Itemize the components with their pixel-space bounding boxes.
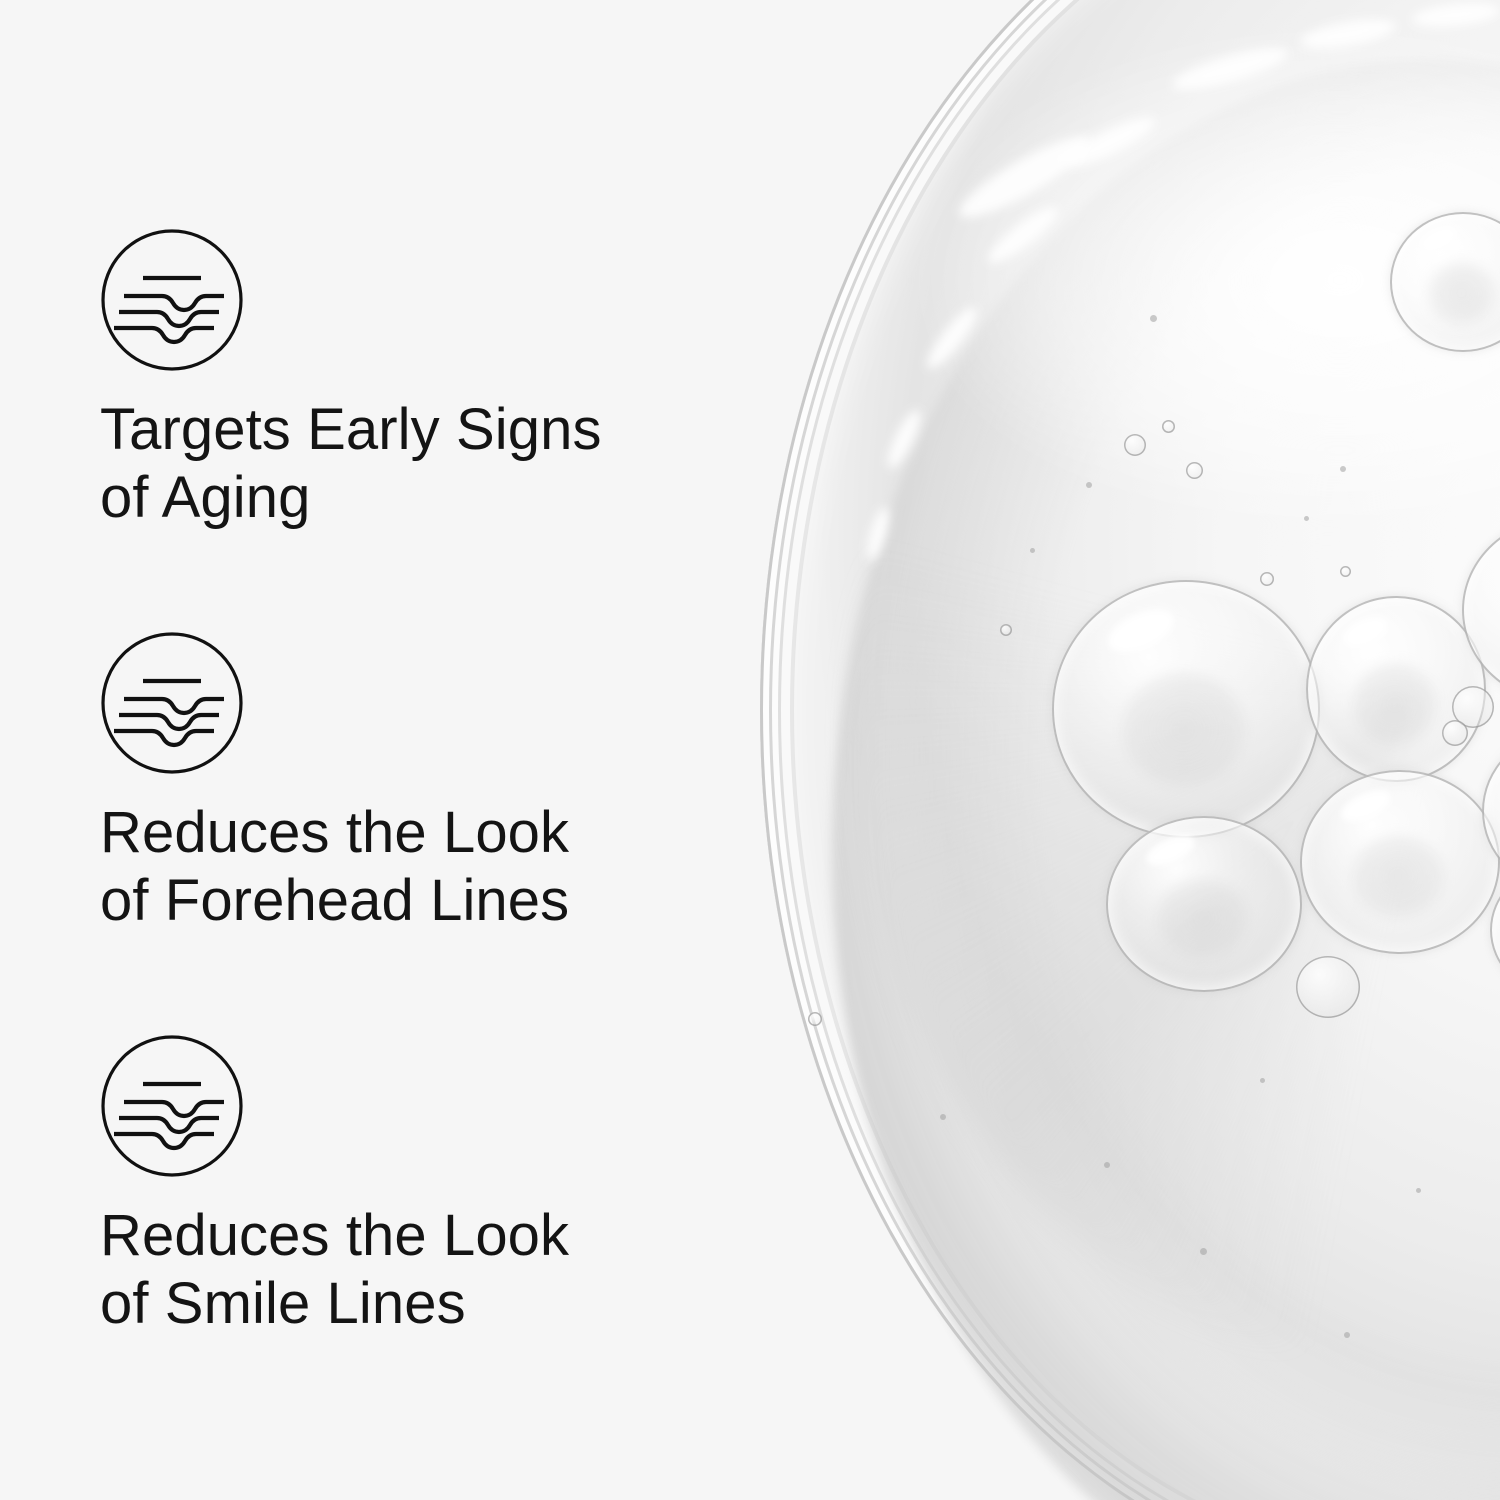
gel-speck bbox=[1086, 482, 1092, 488]
product-image-clear-gel-petri-dish bbox=[700, 0, 1500, 1500]
benefit-list: Targets Early Signs of Aging Reduces the… bbox=[100, 228, 700, 1339]
gel-speck bbox=[1104, 1162, 1110, 1168]
air-bubble bbox=[1306, 596, 1486, 782]
benefit-item-reduces-forehead-lines: Reduces the Look of Forehead Lines bbox=[100, 631, 700, 936]
gel-speck bbox=[1200, 1248, 1207, 1255]
air-bubble bbox=[1106, 816, 1302, 992]
air-bubble-small bbox=[1442, 720, 1468, 746]
benefit-item-reduces-smile-lines: Reduces the Look of Smile Lines bbox=[100, 1034, 700, 1339]
wrinkle-lines-circle-icon bbox=[100, 1034, 244, 1178]
air-bubble-micro bbox=[808, 1012, 822, 1026]
air-bubble-micro bbox=[1124, 434, 1146, 456]
air-bubble-micro bbox=[1340, 566, 1351, 577]
gel-speck bbox=[1416, 1188, 1421, 1193]
gel-speck bbox=[1340, 466, 1346, 472]
air-bubble-micro bbox=[1186, 462, 1203, 479]
air-bubble-micro bbox=[1000, 624, 1012, 636]
gel-speck bbox=[940, 1114, 946, 1120]
benefit-label: Targets Early Signs of Aging bbox=[100, 396, 700, 533]
air-bubble-micro bbox=[1260, 572, 1274, 586]
gel-speck bbox=[1150, 315, 1157, 322]
gel-speck bbox=[1030, 548, 1035, 553]
air-bubble bbox=[1300, 770, 1500, 954]
air-bubble-small bbox=[1296, 956, 1360, 1018]
air-bubble-micro bbox=[1162, 420, 1175, 433]
gel-speck bbox=[1304, 516, 1309, 521]
benefit-label: Reduces the Look of Smile Lines bbox=[100, 1202, 700, 1339]
wrinkle-lines-circle-icon bbox=[100, 228, 244, 372]
benefit-item-targets-early-signs-of-aging: Targets Early Signs of Aging bbox=[100, 228, 700, 533]
wrinkle-lines-circle-icon bbox=[100, 631, 244, 775]
benefit-label: Reduces the Look of Forehead Lines bbox=[100, 799, 700, 936]
product-benefits-banner: Targets Early Signs of Aging Reduces the… bbox=[0, 0, 1500, 1500]
gel-speck bbox=[1260, 1078, 1265, 1083]
air-bubble bbox=[1052, 580, 1320, 838]
gel-speck bbox=[1344, 1332, 1350, 1338]
